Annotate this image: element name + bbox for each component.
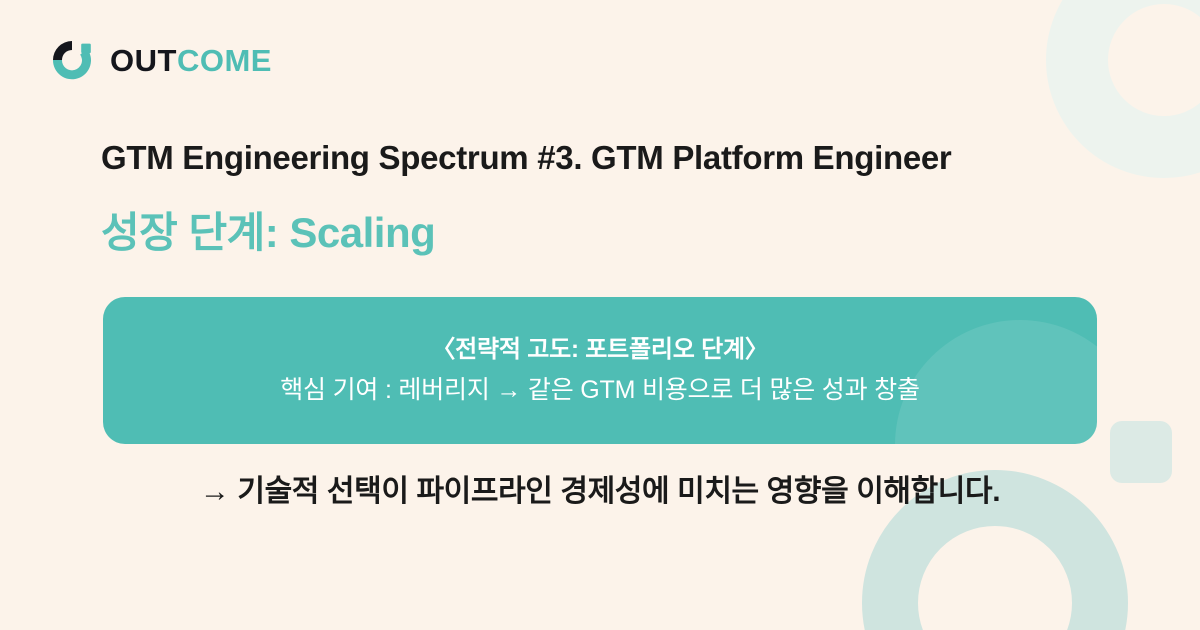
brand-wordmark-out: OUT — [110, 43, 177, 78]
brand-logo: OUTCOME — [48, 36, 272, 84]
highlight-card-subtitle: 핵심 기여 : 레버리지 → 같은 GTM 비용으로 더 많은 성과 창출 — [280, 375, 920, 405]
card-circle-wash-decoration — [895, 320, 1097, 444]
stage-title: 성장 단계: Scaling — [101, 208, 435, 258]
ring-top-right-decoration — [1046, 0, 1200, 178]
brand-wordmark: OUTCOME — [110, 45, 272, 76]
brand-wordmark-come: COME — [177, 43, 272, 78]
outcome-circle-mark-icon — [48, 36, 96, 84]
highlight-card: 〈전략적 고도: 포트폴리오 단계〉 핵심 기여 : 레버리지 → 같은 GTM… — [103, 297, 1097, 444]
highlight-card-title: 〈전략적 고도: 포트폴리오 단계〉 — [431, 336, 768, 365]
series-title: GTM Engineering Spectrum #3. GTM Platfor… — [101, 138, 951, 178]
slide-canvas: OUTCOME GTM Engineering Spectrum #3. GTM… — [0, 0, 1200, 630]
takeaway-text: → 기술적 선택이 파이프라인 경제성에 미치는 영향을 이해합니다. — [0, 473, 1200, 511]
